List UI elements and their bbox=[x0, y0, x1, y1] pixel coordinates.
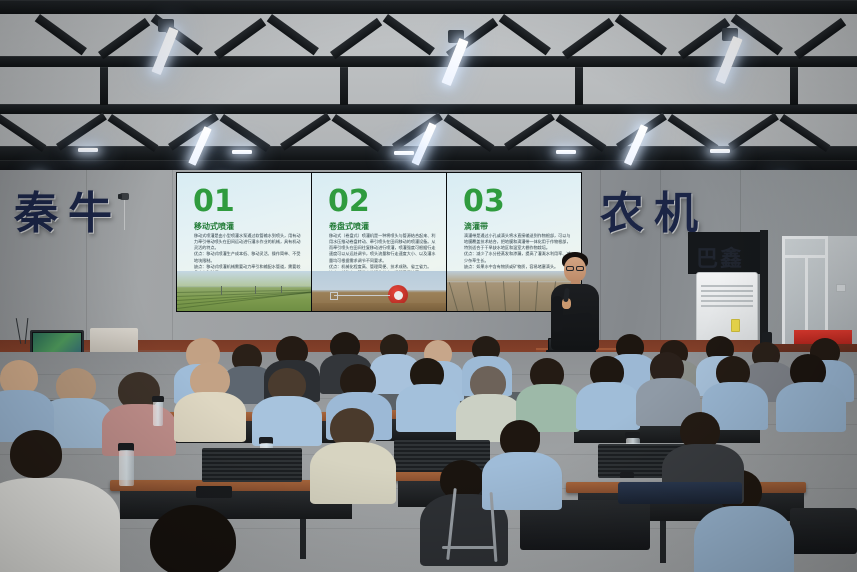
chair-back[interactable] bbox=[790, 508, 857, 554]
screen-panel-02[interactable]: 02 卷盘式喷灌 移动式（卷盘式）喷灌机是一种将喷头与管源结合起来、利用水压推动… bbox=[312, 173, 446, 311]
panel-title: 移动式喷灌 bbox=[194, 221, 234, 232]
panel-title: 卷盘式喷灌 bbox=[329, 221, 369, 232]
panel-photo-sprinkler-field bbox=[177, 271, 311, 311]
training-hall-scene: 秦牛 农机 巴鑫 01 移动式喷灌 移动式喷灌是由小型喷灌水泵通过软管输水到喷头… bbox=[0, 0, 857, 572]
torso bbox=[102, 404, 176, 456]
ceiling-truss-structure bbox=[0, 0, 857, 176]
panel-body: 移动式（卷盘式）喷灌机是一种将喷头与管源结合起来、利用水压推动卷盘转动、牵引喷头… bbox=[329, 233, 439, 276]
torso bbox=[776, 382, 846, 432]
desk-leg bbox=[660, 521, 666, 563]
panel-body: 移动式喷灌是由小型喷灌水泵通过软管输水到喷头，用有动力牵引带动喷头在田间运动进行… bbox=[194, 233, 302, 276]
torso bbox=[310, 442, 396, 504]
document-bag[interactable] bbox=[618, 482, 742, 504]
panel-title: 滴灌带 bbox=[464, 221, 488, 232]
glasses-icon bbox=[576, 266, 584, 271]
panel-photo-reel-irrigator bbox=[312, 271, 446, 311]
water-bottle[interactable] bbox=[119, 450, 134, 486]
bottle-cap bbox=[620, 472, 634, 478]
torso bbox=[576, 382, 640, 430]
chair-frame bbox=[442, 546, 494, 549]
led-video-wall[interactable]: 01 移动式喷灌 移动式喷灌是由小型喷灌水泵通过软管输水到喷头，用有动力牵引带动… bbox=[176, 172, 582, 312]
torso bbox=[0, 478, 120, 572]
panel-number: 03 bbox=[463, 187, 505, 217]
air-conditioner-unit bbox=[696, 272, 758, 344]
bottle-cap bbox=[152, 396, 164, 402]
signage-logo: 巴鑫 bbox=[696, 241, 744, 273]
wall-sign-right: 农机 bbox=[600, 192, 708, 236]
desk-leg bbox=[300, 519, 306, 559]
wall-sign-left: 秦牛 bbox=[14, 192, 122, 236]
screen-panel-01[interactable]: 01 移动式喷灌 移动式喷灌是由小型喷灌水泵通过软管输水到喷头，用有动力牵引带动… bbox=[177, 173, 311, 311]
presenter bbox=[540, 252, 610, 352]
water-bottle[interactable] bbox=[153, 400, 163, 426]
signage-box: 巴鑫 bbox=[688, 232, 766, 274]
head bbox=[150, 505, 236, 572]
torso bbox=[174, 392, 246, 442]
ac-energy-label bbox=[731, 319, 740, 332]
torso bbox=[482, 452, 562, 510]
head bbox=[10, 430, 62, 478]
surveillance-camera-icon bbox=[120, 193, 129, 200]
power-outlet bbox=[836, 284, 846, 292]
panel-number: 01 bbox=[193, 187, 235, 217]
panel-number: 02 bbox=[328, 187, 370, 217]
torso bbox=[694, 506, 794, 572]
chair-back[interactable] bbox=[202, 448, 302, 482]
glasses-icon bbox=[566, 266, 574, 271]
phone[interactable] bbox=[196, 486, 232, 498]
torso bbox=[396, 384, 460, 432]
